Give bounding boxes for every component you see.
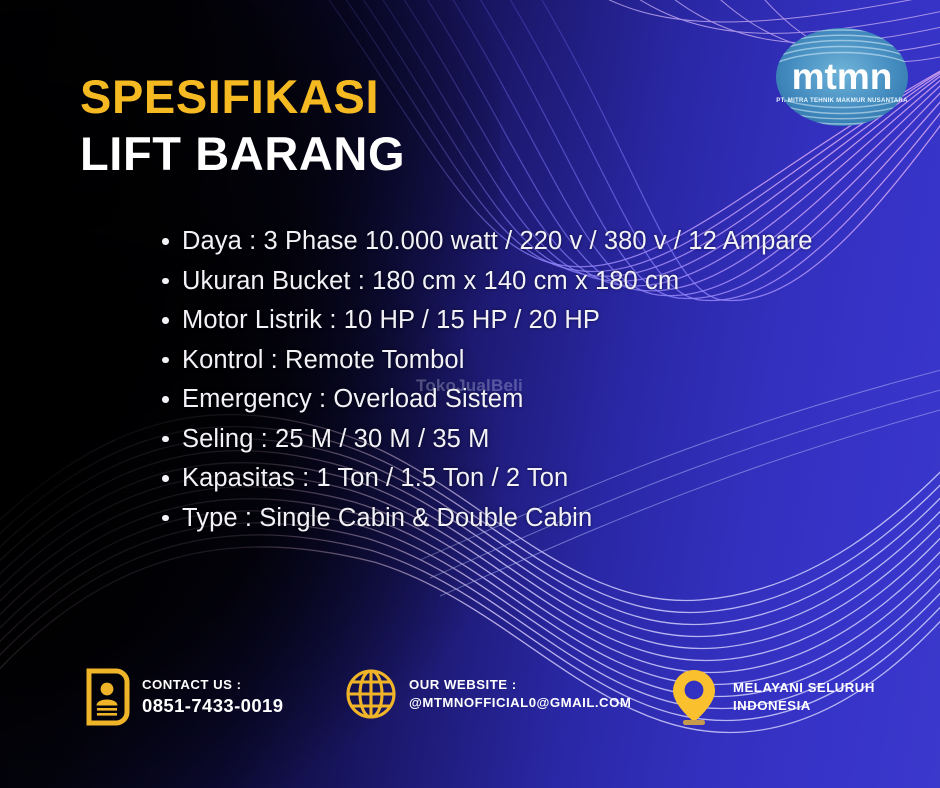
spec-item: Emergency : Overload Sistem [160, 380, 820, 419]
bullet-dot [162, 396, 169, 403]
spec-item-text: Seling : 25 M / 30 M / 35 M [182, 425, 489, 453]
bullet-dot [162, 475, 169, 482]
spec-item-text: Ukuran Bucket : 180 cm x 140 cm x 180 cm [182, 267, 679, 295]
spec-item: Kapasitas : 1 Ton / 1.5 Ton / 2 Ton [160, 459, 820, 498]
spec-item-text: Motor Listrik : 10 HP / 15 HP / 20 HP [182, 306, 600, 334]
footer-area-block: MELAYANI SELURUH INDONESIA [667, 666, 875, 728]
logo-tagline: PT. MITRA TEHNIK MAKMUR NUSANTARA [776, 97, 908, 104]
footer-contact-block: CONTACT US : 0851-7433-0019 [86, 668, 283, 726]
spec-item-text: Kontrol : Remote Tombol [182, 346, 464, 374]
contact-phone[interactable]: 0851-7433-0019 [142, 694, 283, 718]
spec-item-text: Daya : 3 Phase 10.000 watt / 220 v / 380… [182, 227, 813, 255]
spec-item: Type : Single Cabin & Double Cabin [160, 499, 820, 538]
footer-bar: CONTACT US : 0851-7433-0019 OUR WEBSITE … [0, 660, 940, 740]
spec-item-text: Emergency : Overload Sistem [182, 385, 523, 413]
bullet-dot [162, 238, 169, 245]
area-line-2: INDONESIA [733, 697, 875, 715]
website-email[interactable]: @MTMNOFFICIAL0@GMAIL.COM [409, 694, 631, 712]
bullet-dot [162, 278, 169, 285]
footer-contact-text: CONTACT US : 0851-7433-0019 [142, 676, 283, 718]
company-logo: mtmn PT. MITRA TEHNIK MAKMUR NUSANTARA [772, 25, 912, 129]
poster-title: SPESIFIKASI LIFT BARANG [80, 72, 405, 180]
spec-item-text: Kapasitas : 1 Ton / 1.5 Ton / 2 Ton [182, 464, 568, 492]
spec-item: Kontrol : Remote Tombol [160, 341, 820, 380]
bullet-dot [162, 317, 169, 324]
bullet-dot [162, 515, 169, 522]
area-line-1: MELAYANI SELURUH [733, 679, 875, 697]
spec-item-text: Type : Single Cabin & Double Cabin [182, 504, 592, 532]
footer-website-block: OUR WEBSITE : @MTMNOFFICIAL0@GMAIL.COM [345, 668, 631, 720]
contact-label: CONTACT US : [142, 676, 283, 694]
bullet-dot [162, 357, 169, 364]
spec-item: Daya : 3 Phase 10.000 watt / 220 v / 380… [160, 222, 820, 261]
spec-item: Ukuran Bucket : 180 cm x 140 cm x 180 cm [160, 262, 820, 301]
website-label: OUR WEBSITE : [409, 676, 631, 694]
footer-area-text: MELAYANI SELURUH INDONESIA [733, 679, 875, 715]
title-line-1: SPESIFIKASI [80, 72, 405, 123]
spec-item: Motor Listrik : 10 HP / 15 HP / 20 HP [160, 301, 820, 340]
bullet-dot [162, 436, 169, 443]
footer-website-text: OUR WEBSITE : @MTMNOFFICIAL0@GMAIL.COM [409, 676, 631, 712]
logo-wordmark: mtmn [792, 56, 893, 97]
contact-card-icon [86, 668, 130, 726]
title-line-2: LIFT BARANG [80, 129, 405, 180]
location-pin-icon [667, 666, 721, 728]
spec-item: Seling : 25 M / 30 M / 35 M [160, 420, 820, 459]
poster-canvas: SPESIFIKASI LIFT BARANG Daya : 3 Phase 1… [0, 0, 940, 788]
specification-list: Daya : 3 Phase 10.000 watt / 220 v / 380… [160, 222, 820, 538]
globe-icon [345, 668, 397, 720]
